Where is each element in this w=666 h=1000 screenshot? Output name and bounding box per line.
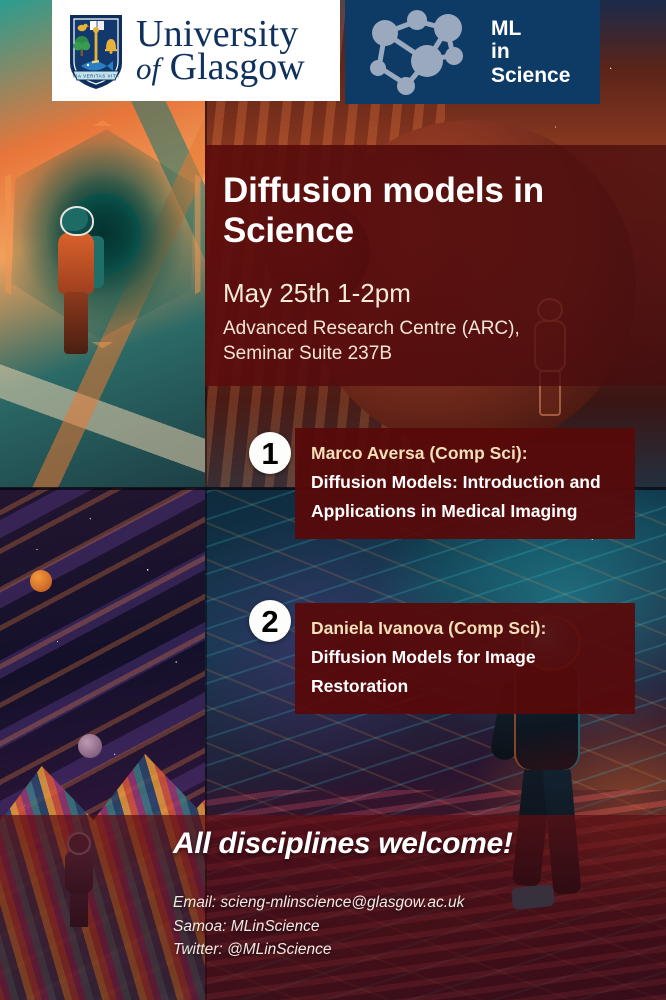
talk-speaker-2: Daniela Ivanova (Comp Sci): — [311, 615, 619, 641]
ml-in-science-logo: ML in Science — [345, 0, 600, 104]
violet-moon-icon — [78, 734, 102, 758]
university-of-glasgow-logo: VIA VERITAS VITA University of Glasgow — [52, 0, 340, 101]
orange-moon-icon — [30, 570, 52, 592]
welcome-message: All disciplines welcome! — [173, 827, 513, 861]
crest-motto: VIA VERITAS VITA — [73, 73, 120, 78]
contact-twitter: Twitter: @MLinScience — [173, 938, 464, 962]
talk-title-1: Diffusion Models: Introduction and Appli… — [311, 468, 619, 525]
talk-speaker-1: Marco Aversa (Comp Sci): — [311, 440, 619, 466]
title-block: Diffusion models in Science May 25th 1-2… — [205, 145, 666, 386]
contact-samoa: Samoa: MLinScience — [173, 915, 464, 939]
talk-number-badge-1: 1 — [249, 432, 291, 474]
venue-line-1: Advanced Research Centre (ARC), — [223, 316, 666, 341]
contact-details: Email: scieng-mlinscience@glasgow.ac.uk … — [173, 891, 464, 962]
ml-logo-line2: in — [491, 40, 570, 64]
talk-title-2: Diffusion Models for Image Restoration — [311, 643, 619, 700]
contact-email: Email: scieng-mlinscience@glasgow.ac.uk — [173, 891, 464, 915]
molecule-network-icon — [355, 7, 485, 97]
talk-item-2: Daniela Ivanova (Comp Sci): Diffusion Mo… — [295, 603, 635, 714]
poster: VIA VERITAS VITA University of Glasgow — [0, 0, 666, 1000]
ml-logo-line1: ML — [491, 17, 570, 41]
university-wordmark: University of Glasgow — [136, 18, 305, 83]
event-datetime: May 25th 1-2pm — [223, 279, 666, 309]
astronaut-figure-icon — [54, 208, 106, 358]
ml-in-science-wordmark: ML in Science — [491, 17, 570, 88]
ml-logo-line3: Science — [491, 64, 570, 88]
page-title: Diffusion models in Science — [223, 171, 615, 251]
university-word-line2: of Glasgow — [136, 51, 305, 84]
event-venue: Advanced Research Centre (ARC), Seminar … — [223, 316, 666, 367]
talk-item-1: Marco Aversa (Comp Sci): Diffusion Model… — [295, 428, 635, 539]
venue-line-2: Seminar Suite 237B — [223, 341, 666, 366]
talk-number-badge-2: 2 — [249, 600, 291, 642]
glasgow-coat-of-arms-icon: VIA VERITAS VITA — [66, 11, 126, 91]
